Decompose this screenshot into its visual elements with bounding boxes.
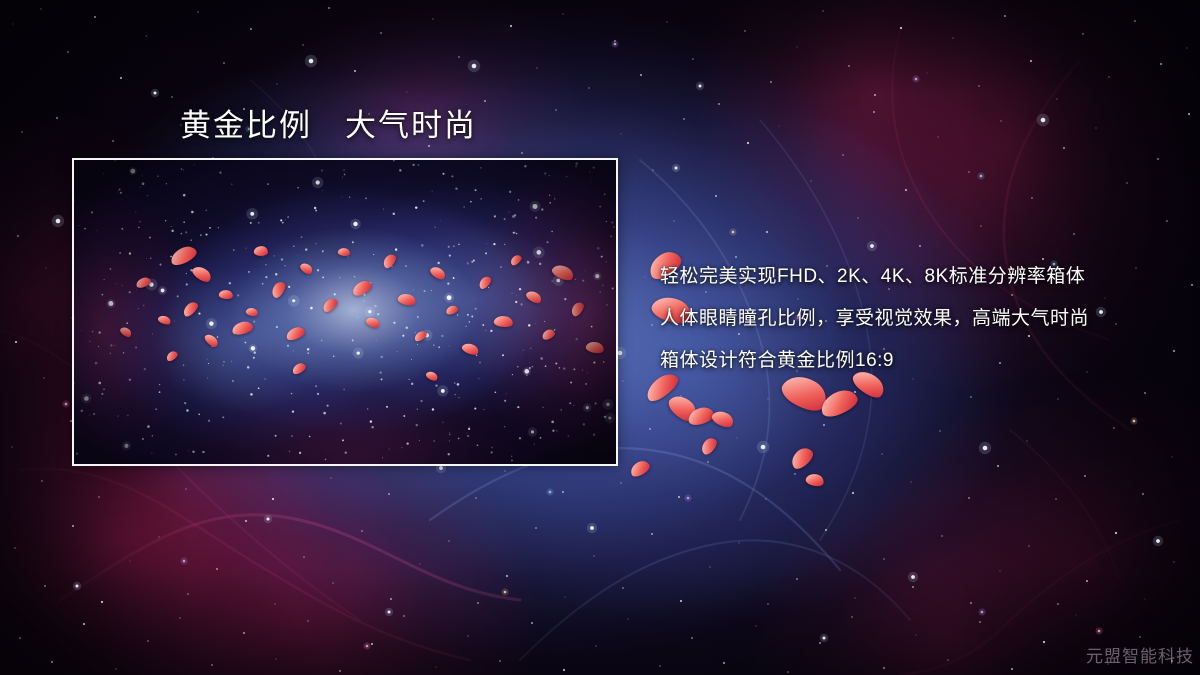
rose-petal	[119, 325, 133, 339]
rose-petal	[365, 315, 382, 330]
rose-petal	[253, 245, 268, 257]
description-line-2: 人体眼睛瞳孔比例，享受视觉效果，高端大气时尚	[660, 298, 1160, 340]
rose-petal	[445, 305, 459, 316]
rose-petal	[569, 300, 586, 318]
rose-petal	[285, 325, 306, 341]
description-block: 轻松完美实现FHD、2K、4K、8K标准分辨率箱体 人体眼睛瞳孔比例，享受视觉效…	[660, 256, 1160, 382]
rose-petal	[817, 386, 860, 420]
photo-frame	[72, 158, 618, 466]
rose-petal	[541, 328, 556, 341]
page-title: 黄金比例 大气时尚	[180, 100, 477, 145]
rose-petal	[321, 296, 340, 313]
rose-petal	[710, 407, 736, 430]
rose-petal	[381, 252, 399, 270]
rose-petal	[788, 444, 817, 471]
rose-petal	[269, 279, 288, 299]
rose-petal	[337, 247, 351, 258]
rose-petal	[425, 369, 439, 382]
description-line-1: 轻松完美实现FHD、2K、4K、8K标准分辨率箱体	[660, 256, 1160, 298]
rose-petal	[665, 390, 700, 425]
rose-petal	[550, 262, 576, 284]
rose-petal	[190, 263, 213, 285]
rose-petal	[165, 350, 179, 363]
rose-petal	[413, 329, 428, 342]
slide-canvas: 黄金比例 大气时尚 轻松完美实现FHD、2K、4K、8K标准分辨率箱体 人体眼睛…	[0, 0, 1200, 675]
rose-petal	[299, 261, 315, 277]
rose-petal	[585, 340, 605, 356]
rose-petal	[168, 243, 199, 267]
rose-petal	[687, 405, 716, 426]
photo-starfield	[74, 160, 616, 464]
rose-petal	[181, 300, 200, 319]
rose-petal	[291, 361, 308, 375]
rose-petal	[525, 288, 544, 305]
watermark: 元盟智能科技	[1086, 642, 1194, 667]
rose-petal	[135, 276, 152, 289]
rose-petal	[397, 291, 418, 307]
rose-petal	[245, 306, 259, 318]
rose-petal	[350, 278, 373, 297]
rose-petal	[805, 472, 826, 489]
rose-petal	[218, 289, 234, 301]
rose-petal	[698, 435, 719, 456]
description-line-3: 箱体设计符合黄金比例16:9	[660, 340, 1160, 382]
rose-petal	[477, 274, 493, 290]
rose-petal	[628, 458, 652, 478]
rose-petal	[493, 314, 514, 328]
photo-image	[74, 160, 616, 464]
rose-petal	[203, 332, 220, 349]
rose-petal	[231, 320, 254, 335]
rose-petal	[509, 253, 523, 266]
rose-petal	[461, 341, 481, 357]
rose-petal	[157, 314, 172, 327]
rose-petal	[429, 264, 448, 282]
photo-vignette	[74, 160, 616, 464]
